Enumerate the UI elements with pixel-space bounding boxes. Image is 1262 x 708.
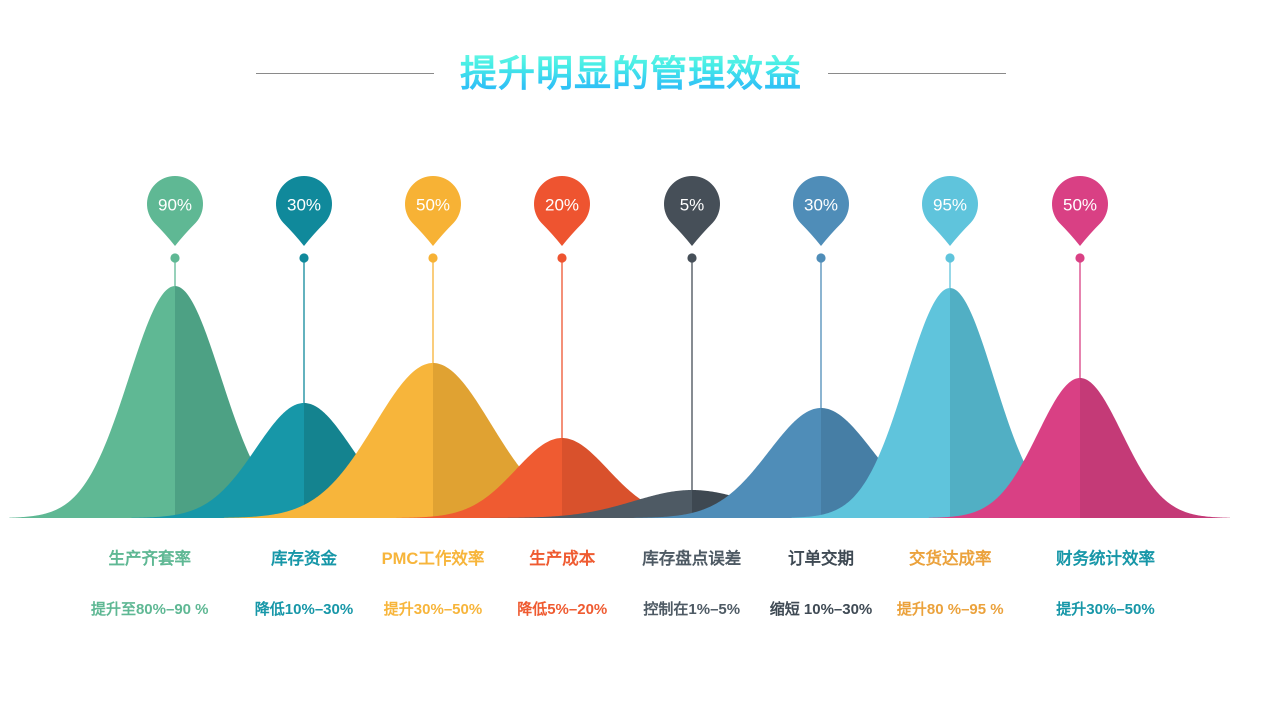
markers-layer: 90%30%50%20%5%30%95%50%	[147, 176, 1108, 490]
curve-left-half	[131, 403, 304, 518]
curve-left-half	[792, 288, 950, 518]
series-sublabel-6: 缩短 10%–30%	[757, 600, 886, 620]
balloon-2[interactable]	[276, 176, 332, 246]
curve-left-half	[396, 438, 562, 518]
series-name-1: 生产齐套率	[60, 548, 240, 570]
series-sublabel-3: 提升30%–50%	[369, 600, 498, 620]
series-sublabel-7: 提升80 %–95 %	[886, 600, 1016, 620]
curve-right-half	[821, 408, 1007, 518]
curve-right-half	[1080, 378, 1230, 518]
balloon-value-5: 5%	[680, 196, 705, 215]
curve-right-half	[692, 490, 900, 518]
series-name-row: 生产齐套率库存资金PMC工作效率生产成本库存盘点误差订单交期交货达成率财务统计效…	[0, 548, 1262, 570]
stem-dot-5	[687, 253, 696, 262]
bell-curve-2	[131, 403, 477, 518]
curve-right-half	[950, 288, 1107, 518]
series-name-5: 库存盘点误差	[627, 548, 757, 570]
series-name-2: 库存资金	[240, 548, 369, 570]
title-divider-left	[256, 73, 434, 74]
balloon-value-6: 30%	[804, 196, 838, 215]
curve-right-half	[562, 438, 726, 518]
series-sublabel-5: 控制在1%–5%	[627, 600, 757, 620]
page-title: 提升明显的管理效益	[460, 55, 802, 92]
bell-curve-3	[224, 363, 640, 518]
series-name-6: 订单交期	[757, 548, 886, 570]
balloon-value-1: 90%	[158, 196, 192, 215]
curve-right-half	[175, 286, 341, 518]
series-name-8: 财务统计效率	[1015, 548, 1196, 570]
balloon-6[interactable]	[793, 176, 849, 246]
balloon-value-8: 50%	[1063, 196, 1097, 215]
series-name-7: 交货达成率	[886, 548, 1016, 570]
balloon-1[interactable]	[147, 176, 203, 246]
stem-dot-2	[299, 253, 308, 262]
stem-dot-1	[170, 253, 179, 262]
series-sublabel-4: 降低5%–20%	[498, 600, 628, 620]
bell-curve-5	[483, 490, 899, 518]
curves-layer	[9, 286, 1230, 518]
series-sublabel-8: 提升30%–50%	[1015, 600, 1196, 620]
page-title-row: 提升明显的管理效益	[0, 44, 1262, 102]
slide-canvas: 提升明显的管理效益 90%30%50%20%5%30%95%50% 生产齐套率库…	[0, 0, 1262, 708]
curve-left-half	[634, 408, 821, 518]
balloon-8[interactable]	[1052, 176, 1108, 246]
curve-right-half	[433, 363, 641, 518]
balloon-7[interactable]	[922, 176, 978, 246]
curve-left-half	[929, 378, 1080, 518]
curve-left-half	[483, 490, 692, 518]
balloon-4[interactable]	[534, 176, 590, 246]
balloon-value-3: 50%	[416, 196, 450, 215]
series-sublabel-2: 降低10%–30%	[240, 600, 369, 620]
balloon-5[interactable]	[664, 176, 720, 246]
stem-dot-4	[557, 253, 566, 262]
series-sublabel-row: 提升至80%–90 %降低10%–30%提升30%–50%降低5%–20%控制在…	[0, 600, 1262, 620]
balloon-value-7: 95%	[933, 196, 967, 215]
title-divider-right	[828, 73, 1006, 74]
curve-right-half	[304, 403, 477, 518]
bell-curve-4	[396, 438, 726, 518]
series-name-3: PMC工作效率	[369, 548, 498, 570]
stem-dot-6	[816, 253, 825, 262]
bell-curve-6	[634, 408, 1007, 518]
stem-dot-7	[945, 253, 954, 262]
balloon-value-2: 30%	[287, 196, 321, 215]
balloon-value-4: 20%	[545, 196, 579, 215]
curve-left-half	[224, 363, 433, 518]
bell-curve-7	[792, 288, 1108, 518]
curve-left-half	[9, 286, 175, 518]
balloon-3[interactable]	[405, 176, 461, 246]
stem-dot-8	[1075, 253, 1084, 262]
stem-dot-3	[428, 253, 437, 262]
bell-curve-8	[929, 378, 1230, 518]
series-sublabel-1: 提升至80%–90 %	[60, 600, 240, 620]
series-name-4: 生产成本	[498, 548, 628, 570]
bell-curve-1	[9, 286, 340, 518]
